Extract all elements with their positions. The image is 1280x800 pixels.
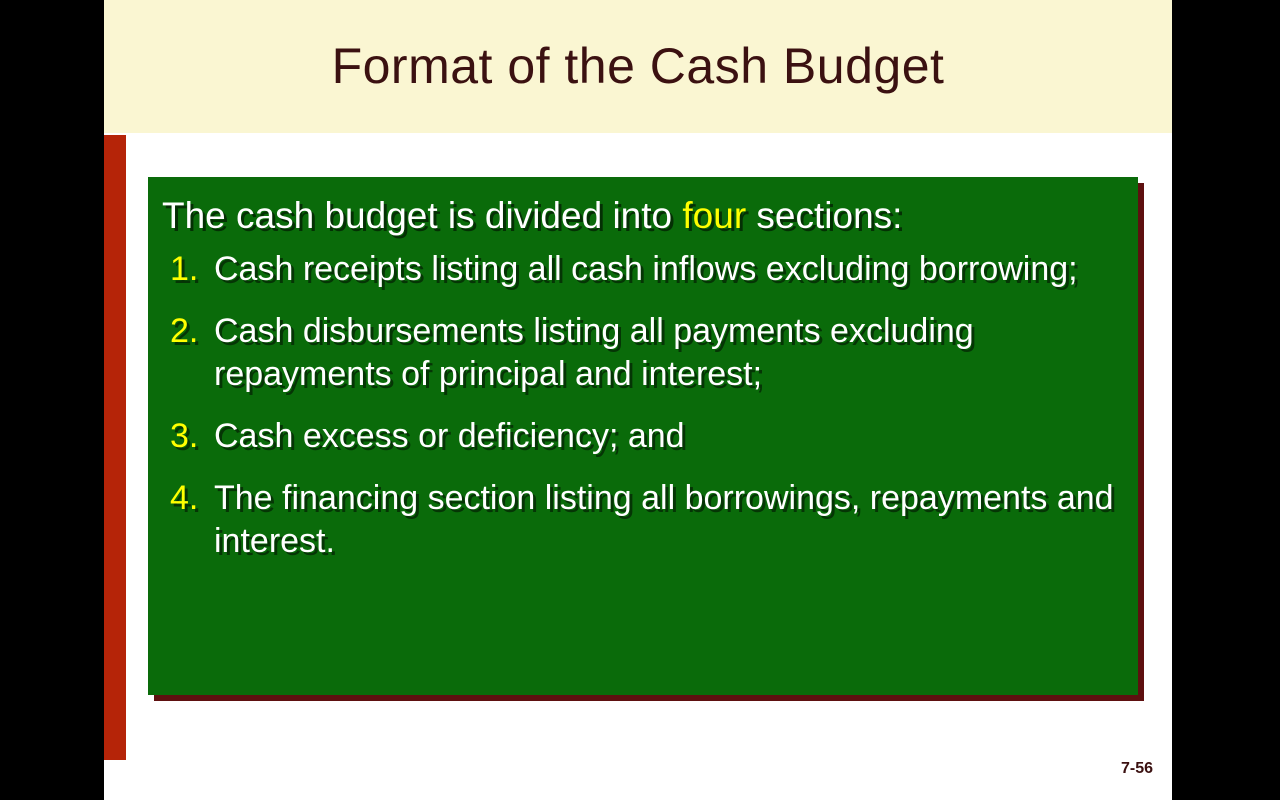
lead-in-statement: The cash budget is divided into four sec…: [162, 195, 1116, 236]
content-box: The cash budget is divided into four sec…: [148, 177, 1138, 695]
list-item-marker: 2.: [162, 310, 214, 354]
title-banner: Format of the Cash Budget: [104, 0, 1172, 133]
lead-in-text-before: The cash budget is divided into: [162, 195, 682, 236]
list-item: 2. Cash disbursements listing all paymen…: [162, 310, 1116, 397]
slide-root: Format of the Cash Budget The cash budge…: [0, 0, 1280, 800]
list-item-marker: 1.: [162, 248, 214, 292]
list-item-label: Cash excess or deficiency; and: [214, 415, 1116, 459]
list-item-label: Cash disbursements listing all payments …: [214, 310, 1116, 397]
list-item: 4. The financing section listing all bor…: [162, 477, 1116, 564]
list-item-label: The financing section listing all borrow…: [214, 477, 1116, 564]
list-item: 3. Cash excess or deficiency; and: [162, 415, 1116, 459]
page-title: Format of the Cash Budget: [332, 40, 945, 93]
left-accent-bar: [104, 135, 126, 760]
content-box-wrapper: The cash budget is divided into four sec…: [148, 177, 1138, 695]
list-item-marker: 3.: [162, 415, 214, 459]
list-item-marker: 4.: [162, 477, 214, 521]
slide-number: 7-56: [1121, 760, 1153, 778]
sections-list: 1. Cash receipts listing all cash inflow…: [162, 248, 1116, 563]
lead-in-highlight: four: [682, 195, 746, 236]
list-item: 1. Cash receipts listing all cash inflow…: [162, 248, 1116, 292]
lead-in-text-after: sections:: [746, 195, 902, 236]
slide-canvas: Format of the Cash Budget The cash budge…: [104, 0, 1172, 800]
list-item-label: Cash receipts listing all cash inflows e…: [214, 248, 1116, 292]
